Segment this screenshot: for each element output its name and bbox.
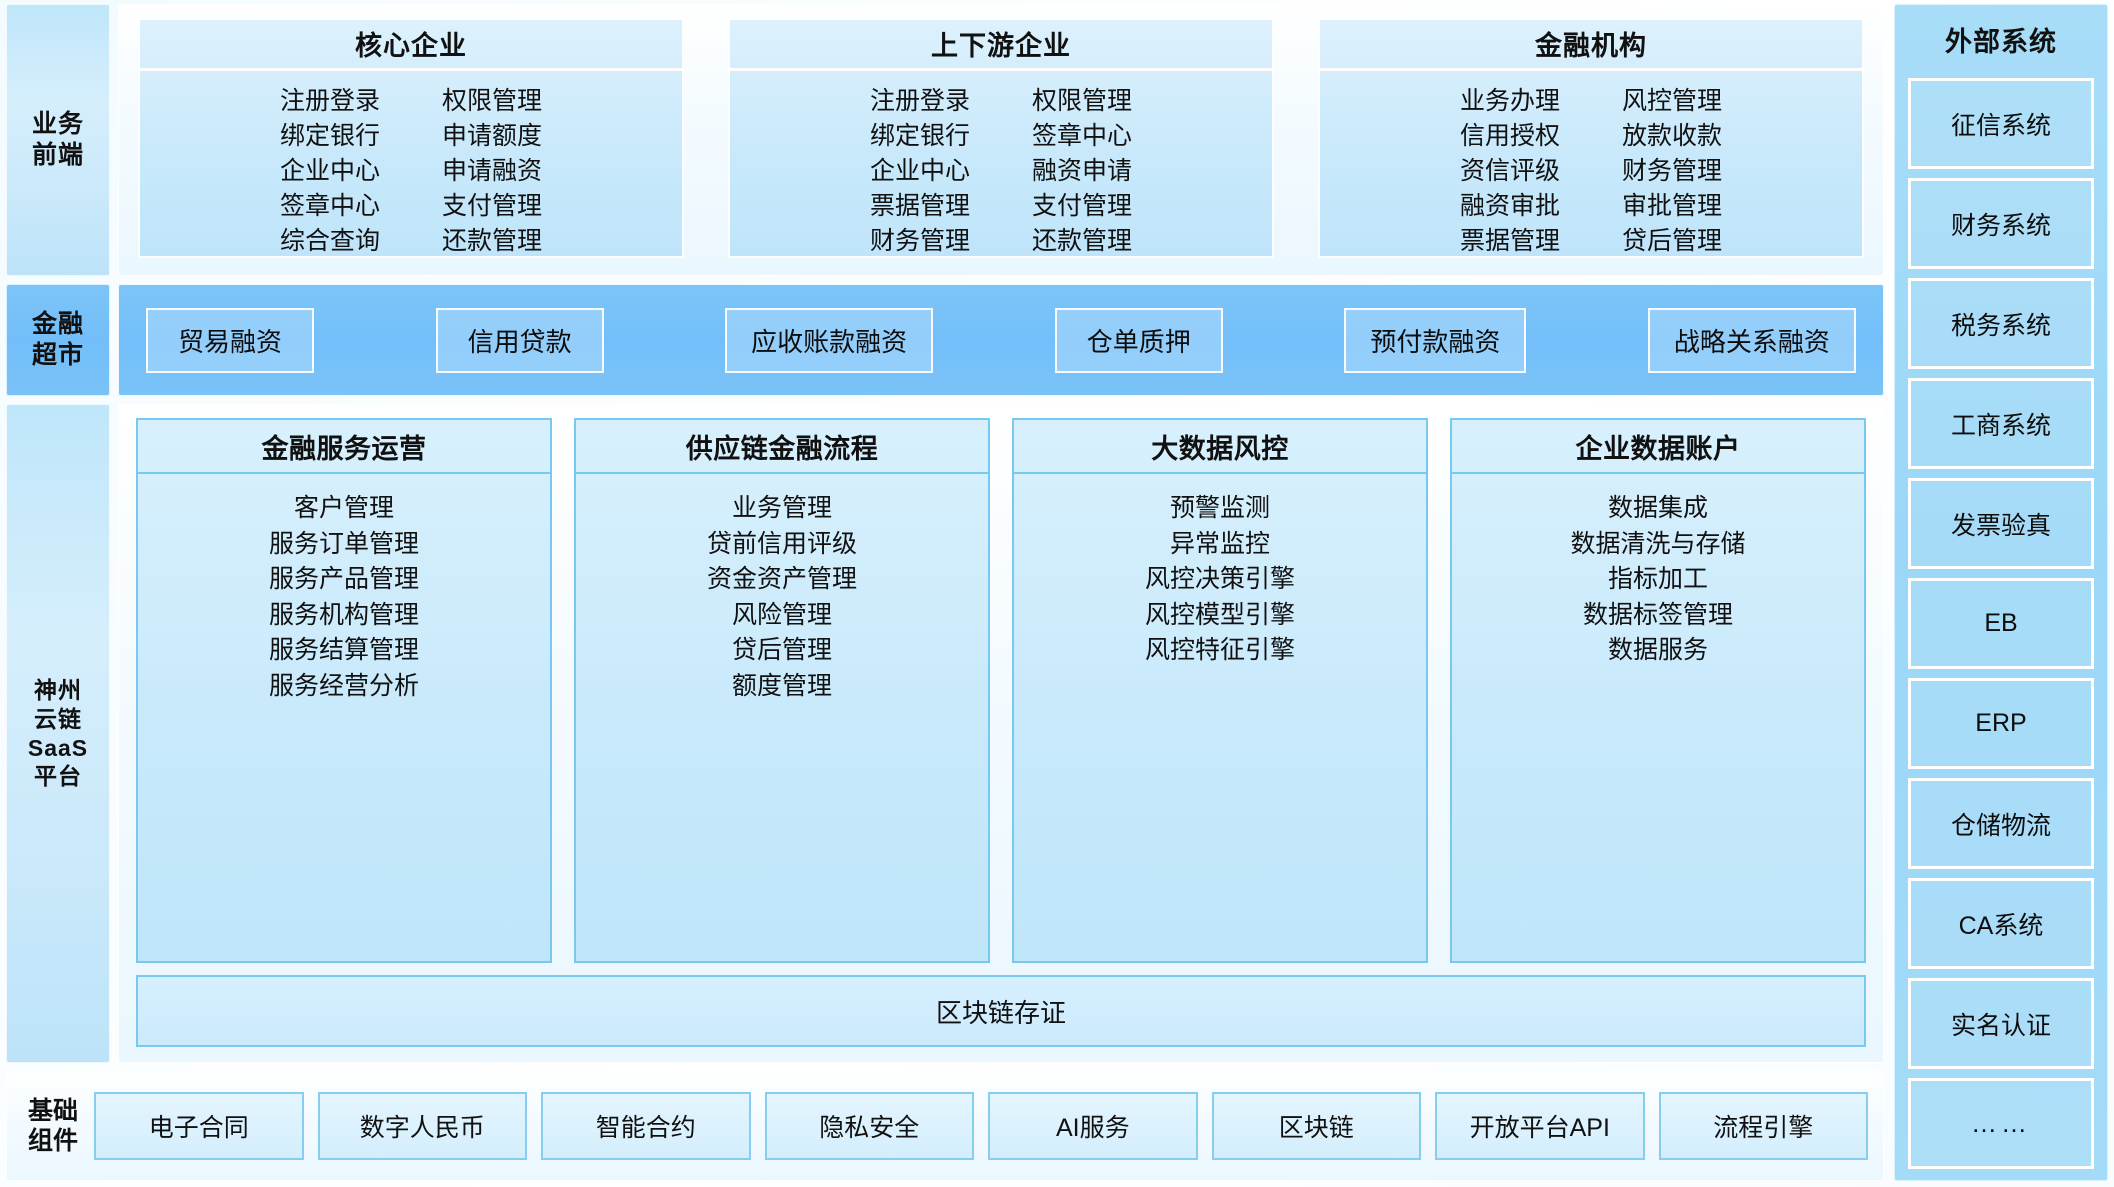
list-item[interactable]: 服务订单管理 <box>269 528 419 562</box>
base-chip-smart-contract[interactable]: 智能合约 <box>541 1092 751 1160</box>
frontend-card-core-enterprise[interactable]: 核心企业 注册登录 绑定银行 企业中心 签章中心 综合查询 权限管理 <box>138 18 684 258</box>
list-item[interactable]: 风控决策引擎 <box>1145 563 1295 597</box>
layer-label-financial-marketplace: 金融超市 <box>6 284 110 396</box>
list-item[interactable]: 放款收款 <box>1622 120 1722 153</box>
layer-label-base-components: 基础组件 <box>28 1096 78 1157</box>
card-body: 客户管理 服务订单管理 服务产品管理 服务机构管理 服务结算管理 服务经营分析 <box>138 474 550 961</box>
list-item[interactable]: 数据清洗与存储 <box>1570 528 1745 562</box>
base-chip-open-platform-api[interactable]: 开放平台API <box>1435 1092 1645 1160</box>
card-column-right: 权限管理 签章中心 融资申请 支付管理 还款管理 <box>1032 85 1132 258</box>
external-chip-finance-system[interactable]: 财务系统 <box>1908 178 2094 269</box>
external-chip-warehouse-logistics[interactable]: 仓储物流 <box>1908 778 2094 869</box>
list-item[interactable]: 权限管理 <box>442 85 542 118</box>
saas-card-supply-chain-finance-process[interactable]: 供应链金融流程 业务管理 贷前信用评级 资金资产管理 风险管理 贷后管理 额度管… <box>574 418 990 963</box>
list-item[interactable]: 风险管理 <box>732 599 832 633</box>
list-item[interactable]: 支付管理 <box>442 190 542 223</box>
marketplace-chip-warehouse-receipt-pledge[interactable]: 仓单质押 <box>1055 308 1223 373</box>
list-item[interactable]: 申请额度 <box>442 120 542 153</box>
list-item[interactable]: 审批管理 <box>1622 190 1722 223</box>
layer-body-base-components: 基础组件 电子合同 数字人民币 智能合约 隐私安全 AI服务 区块链 开放平台A… <box>6 1071 1884 1181</box>
layer-label-saas-platform: 神州云链SaaS平台 <box>6 404 110 1063</box>
list-item[interactable]: 服务产品管理 <box>269 563 419 597</box>
external-systems-title: 外部系统 <box>1908 14 2094 69</box>
list-item[interactable]: 服务经营分析 <box>269 670 419 704</box>
frontend-card-row: 核心企业 注册登录 绑定银行 企业中心 签章中心 综合查询 权限管理 <box>118 4 1884 276</box>
list-item[interactable]: 业务办理 <box>1460 85 1560 118</box>
list-item[interactable]: 风控管理 <box>1622 85 1722 118</box>
card-column-right: 风控管理 放款收款 财务管理 审批管理 贷后管理 <box>1622 85 1722 258</box>
list-item[interactable]: 签章中心 <box>280 190 380 223</box>
card-column-left: 注册登录 绑定银行 企业中心 票据管理 财务管理 <box>870 85 970 258</box>
card-body: 数据集成 数据清洗与存储 指标加工 数据标签管理 数据服务 <box>1452 474 1864 961</box>
list-item[interactable]: 客户管理 <box>294 492 394 526</box>
base-chip-row: 电子合同 数字人民币 智能合约 隐私安全 AI服务 区块链 开放平台API 流程… <box>94 1092 1868 1160</box>
list-item[interactable]: 权限管理 <box>1032 85 1132 118</box>
list-item[interactable]: 绑定银行 <box>280 120 380 153</box>
list-item[interactable]: 贷后管理 <box>1622 225 1722 258</box>
layer-body-financial-marketplace: 贸易融资 信用贷款 应收账款融资 仓单质押 预付款融资 战略关系融资 <box>118 284 1884 396</box>
list-item[interactable]: 还款管理 <box>1032 225 1132 258</box>
list-item[interactable]: 风控特征引擎 <box>1145 634 1295 668</box>
list-item[interactable]: 服务机构管理 <box>269 599 419 633</box>
list-item[interactable]: 信用授权 <box>1460 120 1560 153</box>
list-item[interactable]: 资信评级 <box>1460 155 1560 188</box>
layer-label-business-frontend: 业务前端 <box>6 4 110 276</box>
card-title: 金融服务运营 <box>138 420 550 474</box>
card-title: 上下游企业 <box>728 18 1274 71</box>
card-title: 供应链金融流程 <box>576 420 988 474</box>
list-item[interactable]: 资金资产管理 <box>707 563 857 597</box>
marketplace-chip-row: 贸易融资 信用贷款 应收账款融资 仓单质押 预付款融资 战略关系融资 <box>118 284 1884 396</box>
blockchain-evidence-bar[interactable]: 区块链存证 <box>136 975 1866 1047</box>
architecture-diagram: 业务前端 核心企业 注册登录 绑定银行 企业中心 签章中心 综合查询 <box>0 0 2114 1187</box>
list-item[interactable]: 数据集成 <box>1608 492 1708 526</box>
saas-inner: 金融服务运营 客户管理 服务订单管理 服务产品管理 服务机构管理 服务结算管理 … <box>118 404 1884 1063</box>
card-column-left: 注册登录 绑定银行 企业中心 签章中心 综合查询 <box>280 85 380 258</box>
layer-business-frontend: 业务前端 核心企业 注册登录 绑定银行 企业中心 签章中心 综合查询 <box>6 4 1884 276</box>
external-chip-eb[interactable]: EB <box>1908 578 2094 669</box>
list-item[interactable]: 注册登录 <box>280 85 380 118</box>
card-body: 注册登录 绑定银行 企业中心 票据管理 财务管理 权限管理 签章中心 融资申请 … <box>728 71 1274 258</box>
base-chip-privacy-security[interactable]: 隐私安全 <box>765 1092 975 1160</box>
external-chip-business-registration-system[interactable]: 工商系统 <box>1908 378 2094 469</box>
external-chip-erp[interactable]: ERP <box>1908 678 2094 769</box>
list-item[interactable]: 服务结算管理 <box>269 634 419 668</box>
layer-financial-marketplace: 金融超市 贸易融资 信用贷款 应收账款融资 仓单质押 预付款融资 战略关系融资 <box>6 284 1884 396</box>
saas-card-financial-service-operation[interactable]: 金融服务运营 客户管理 服务订单管理 服务产品管理 服务机构管理 服务结算管理 … <box>136 418 552 963</box>
list-item[interactable]: 融资审批 <box>1460 190 1560 223</box>
external-chip-credit-reference-system[interactable]: 征信系统 <box>1908 78 2094 169</box>
marketplace-chip-trade-finance[interactable]: 贸易融资 <box>146 308 314 373</box>
marketplace-chip-receivables-finance[interactable]: 应收账款融资 <box>725 308 933 373</box>
card-body: 业务管理 贷前信用评级 资金资产管理 风险管理 贷后管理 额度管理 <box>576 474 988 961</box>
list-item[interactable]: 绑定银行 <box>870 120 970 153</box>
saas-card-row: 金融服务运营 客户管理 服务订单管理 服务产品管理 服务机构管理 服务结算管理 … <box>136 418 1866 963</box>
external-chip-real-name-authentication[interactable]: 实名认证 <box>1908 978 2094 1069</box>
frontend-card-financial-institution[interactable]: 金融机构 业务办理 信用授权 资信评级 融资审批 票据管理 风控管理 <box>1318 18 1864 258</box>
base-chip-electronic-contract[interactable]: 电子合同 <box>94 1092 304 1160</box>
list-item[interactable]: 数据标签管理 <box>1583 599 1733 633</box>
list-item[interactable]: 风控模型引擎 <box>1145 599 1295 633</box>
marketplace-chip-strategic-relation-finance[interactable]: 战略关系融资 <box>1648 308 1856 373</box>
list-item[interactable]: 企业中心 <box>280 155 380 188</box>
card-column-right: 权限管理 申请额度 申请融资 支付管理 还款管理 <box>442 85 542 258</box>
card-title: 金融机构 <box>1318 18 1864 71</box>
frontend-card-upstream-downstream[interactable]: 上下游企业 注册登录 绑定银行 企业中心 票据管理 财务管理 权限管理 <box>728 18 1274 258</box>
list-item[interactable]: 企业中心 <box>870 155 970 188</box>
list-item[interactable]: 票据管理 <box>1460 225 1560 258</box>
base-chip-process-engine[interactable]: 流程引擎 <box>1659 1092 1869 1160</box>
card-title: 核心企业 <box>138 18 684 71</box>
layer-saas-platform: 神州云链SaaS平台 金融服务运营 客户管理 服务订单管理 服务产品管理 服务机… <box>6 404 1884 1063</box>
list-item[interactable]: 申请融资 <box>442 155 542 188</box>
base-inner: 基础组件 电子合同 数字人民币 智能合约 隐私安全 AI服务 区块链 开放平台A… <box>6 1071 1884 1181</box>
list-item[interactable]: 注册登录 <box>870 85 970 118</box>
base-chip-digital-rmb[interactable]: 数字人民币 <box>318 1092 528 1160</box>
list-item[interactable]: 票据管理 <box>870 190 970 223</box>
list-item[interactable]: 综合查询 <box>280 225 380 258</box>
list-item[interactable]: 签章中心 <box>1032 120 1132 153</box>
list-item[interactable]: 还款管理 <box>442 225 542 258</box>
base-chip-ai-service[interactable]: AI服务 <box>988 1092 1198 1160</box>
card-title: 企业数据账户 <box>1452 420 1864 474</box>
list-item[interactable]: 贷后管理 <box>732 634 832 668</box>
list-item[interactable]: 业务管理 <box>732 492 832 526</box>
list-item[interactable]: 异常监控 <box>1170 528 1270 562</box>
list-item[interactable]: 财务管理 <box>870 225 970 258</box>
external-chip-invoice-verification[interactable]: 发票验真 <box>1908 478 2094 569</box>
list-item[interactable]: 贷前信用评级 <box>707 528 857 562</box>
list-item[interactable]: 财务管理 <box>1622 155 1722 188</box>
layer-base-components: 基础组件 电子合同 数字人民币 智能合约 隐私安全 AI服务 区块链 开放平台A… <box>6 1071 1884 1181</box>
saas-card-big-data-risk-control[interactable]: 大数据风控 预警监测 异常监控 风控决策引擎 风控模型引擎 风控特征引擎 <box>1012 418 1428 963</box>
card-body: 预警监测 异常监控 风控决策引擎 风控模型引擎 风控特征引擎 <box>1014 474 1426 961</box>
list-item[interactable]: 融资申请 <box>1032 155 1132 188</box>
card-body: 业务办理 信用授权 资信评级 融资审批 票据管理 风控管理 放款收款 财务管理 … <box>1318 71 1864 258</box>
list-item[interactable]: 额度管理 <box>732 670 832 704</box>
card-body: 注册登录 绑定银行 企业中心 签章中心 综合查询 权限管理 申请额度 申请融资 … <box>138 71 684 258</box>
card-column-left: 业务办理 信用授权 资信评级 融资审批 票据管理 <box>1460 85 1560 258</box>
list-item[interactable]: 预警监测 <box>1170 492 1270 526</box>
card-title: 大数据风控 <box>1014 420 1426 474</box>
external-systems-panel: 外部系统 征信系统 财务系统 税务系统 工商系统 发票验真 EB ERP 仓储物… <box>1894 4 2108 1181</box>
list-item[interactable]: 支付管理 <box>1032 190 1132 223</box>
base-chip-blockchain[interactable]: 区块链 <box>1212 1092 1422 1160</box>
saas-card-enterprise-data-account[interactable]: 企业数据账户 数据集成 数据清洗与存储 指标加工 数据标签管理 数据服务 <box>1450 418 1866 963</box>
list-item[interactable]: 数据服务 <box>1608 634 1708 668</box>
layer-body-saas-platform: 金融服务运营 客户管理 服务订单管理 服务产品管理 服务机构管理 服务结算管理 … <box>118 404 1884 1063</box>
external-chip-ellipsis[interactable]: …… <box>1908 1078 2094 1169</box>
main-layer-stack: 业务前端 核心企业 注册登录 绑定银行 企业中心 签章中心 综合查询 <box>6 4 1884 1181</box>
layer-body-business-frontend: 核心企业 注册登录 绑定银行 企业中心 签章中心 综合查询 权限管理 <box>118 4 1884 276</box>
marketplace-chip-prepayment-finance[interactable]: 预付款融资 <box>1344 308 1526 373</box>
list-item[interactable]: 指标加工 <box>1608 563 1708 597</box>
marketplace-chip-credit-loan[interactable]: 信用贷款 <box>436 308 604 373</box>
external-chip-tax-system[interactable]: 税务系统 <box>1908 278 2094 369</box>
external-chip-ca-system[interactable]: CA系统 <box>1908 878 2094 969</box>
